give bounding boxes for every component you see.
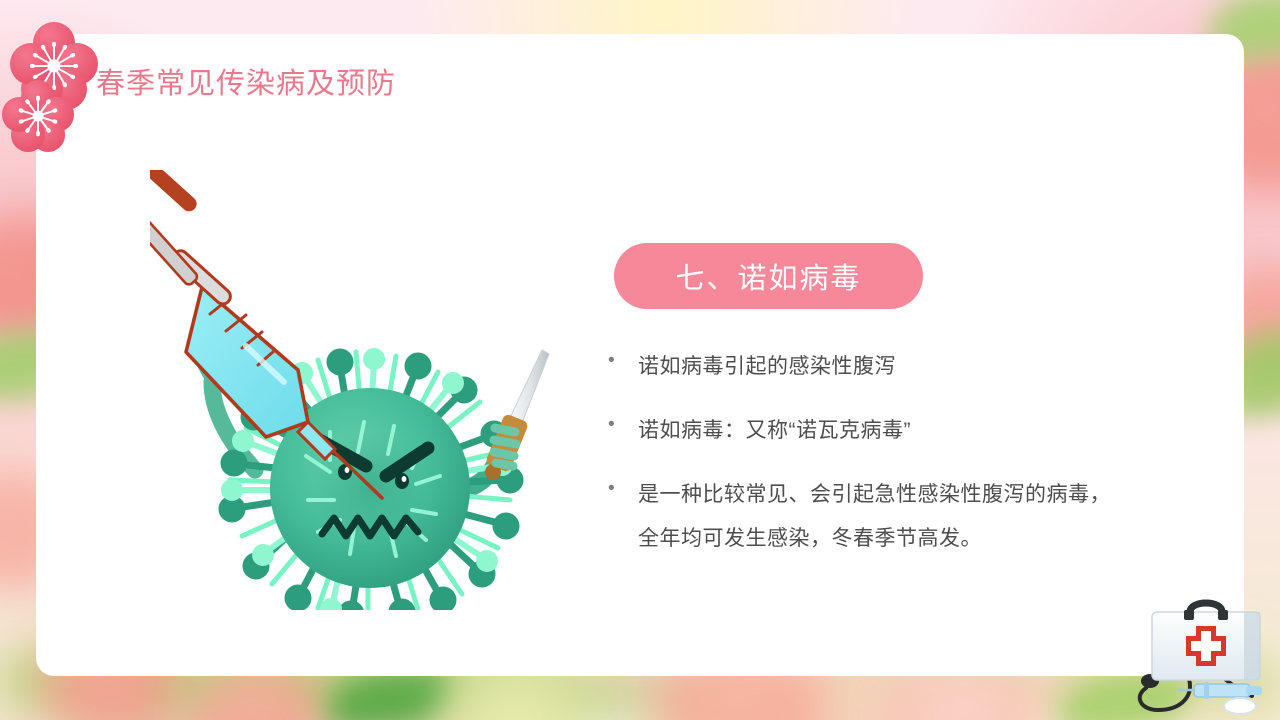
bullet-dot-icon: •	[608, 473, 638, 505]
bullet-text: 是一种比较常见、会引起急性感染性腹泻的病毒，全年均可发生感染，冬春季节高发。	[638, 473, 1128, 561]
bullet-text: 诺如病毒：又称“诺瓦克病毒”	[638, 409, 1128, 453]
slide-root: 春季常见传染病及预防	[0, 0, 1280, 720]
list-item: • 诺如病毒：又称“诺瓦克病毒”	[608, 409, 1128, 453]
bullet-list: • 诺如病毒引起的感染性腹泻 • 诺如病毒：又称“诺瓦克病毒” • 是一种比较常…	[608, 345, 1128, 581]
section-badge: 七、诺如病毒	[614, 243, 923, 309]
list-item: • 是一种比较常见、会引起急性感染性腹泻的病毒，全年均可发生感染，冬春季节高发。	[608, 473, 1128, 561]
first-aid-kit-illustration	[1128, 592, 1280, 720]
plum-blossom-small	[2, 80, 74, 152]
kit-handle	[1190, 603, 1222, 612]
blossom-center	[33, 111, 44, 122]
kit-round-base	[1224, 698, 1256, 714]
bullet-dot-icon: •	[608, 409, 638, 441]
list-item: • 诺如病毒引起的感染性腹泻	[608, 345, 1128, 389]
page-title: 春季常见传染病及预防	[96, 60, 396, 102]
syringe-and-angry-virus-illustration	[150, 170, 570, 610]
bullet-dot-icon: •	[608, 345, 638, 377]
section-badge-label: 七、诺如病毒	[675, 255, 861, 297]
bullet-text: 诺如病毒引起的感染性腹泻	[638, 345, 1128, 389]
